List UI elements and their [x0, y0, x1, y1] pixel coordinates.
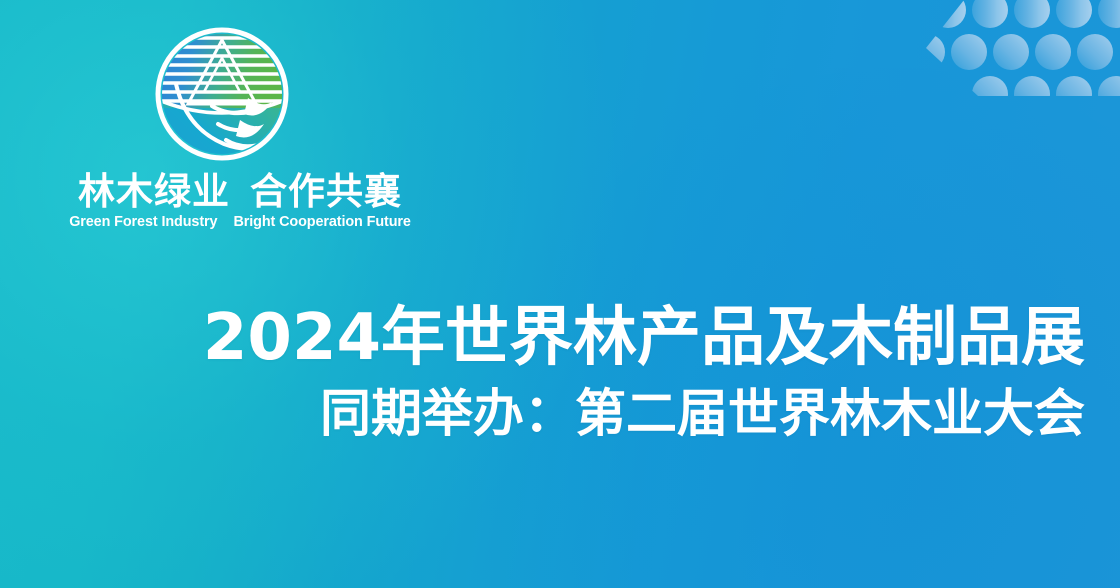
- circle-dot-pattern: [860, 0, 1120, 96]
- logo-slogan-en-right: Bright Cooperation Future: [233, 214, 410, 230]
- event-subtitle: 同期举办：第二届世界林木业大会: [0, 388, 1085, 442]
- logo-slogan-en-left: Green Forest Industry: [69, 214, 217, 230]
- logo-block: 林木绿业合作共襄 Green Forest IndustryBright Coo…: [30, 24, 450, 230]
- logo-slogan-cn-left: 林木绿业: [78, 170, 230, 213]
- globe-forest-emblem-icon: [152, 24, 292, 164]
- headline-block: 2024年世界林产品及木制品展 同期举办：第二届世界林木业大会: [0, 306, 1085, 441]
- event-banner: 林木绿业合作共襄 Green Forest IndustryBright Coo…: [0, 0, 1120, 588]
- logo-slogan-cn-right: 合作共襄: [250, 170, 402, 213]
- logo-slogan-cn: 林木绿业合作共襄: [30, 172, 450, 211]
- logo-slogan-en: Green Forest IndustryBright Cooperation …: [30, 214, 450, 230]
- event-title: 2024年世界林产品及木制品展: [0, 306, 1085, 372]
